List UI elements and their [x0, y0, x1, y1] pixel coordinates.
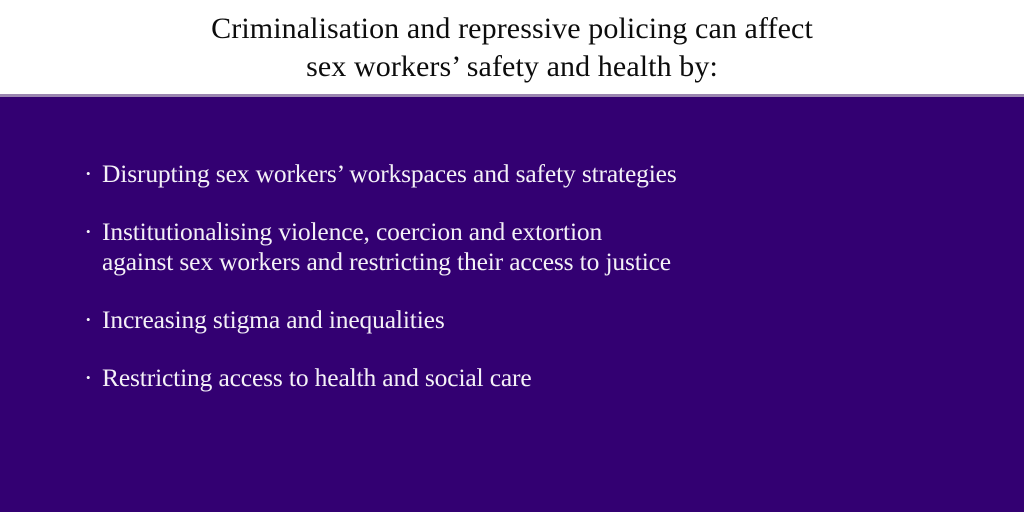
list-item: · Disrupting sex workers’ workspaces and… — [82, 159, 932, 189]
list-item: · Increasing stigma and inequalities — [82, 305, 932, 335]
list-item-line: Increasing stigma and inequalities — [102, 305, 932, 335]
bullet-icon: · — [84, 159, 98, 189]
list-item-line: Disrupting sex workers’ workspaces and s… — [102, 159, 932, 189]
page-title-line-2: sex workers’ safety and health by: — [306, 48, 718, 86]
bullet-icon: · — [84, 217, 98, 247]
list-item-line: against sex workers and restricting thei… — [102, 247, 932, 277]
bullet-list: · Disrupting sex workers’ workspaces and… — [82, 159, 932, 393]
content-panel: · Disrupting sex workers’ workspaces and… — [0, 97, 1024, 512]
bullet-icon: · — [84, 363, 98, 393]
slide: Criminalisation and repressive policing … — [0, 0, 1024, 512]
page-title-line-1: Criminalisation and repressive policing … — [211, 10, 813, 48]
slide-header: Criminalisation and repressive policing … — [0, 0, 1024, 95]
list-item: · Restricting access to health and socia… — [82, 363, 932, 393]
list-item-line: Institutionalising violence, coercion an… — [102, 217, 932, 247]
list-item: · Institutionalising violence, coercion … — [82, 217, 932, 277]
list-item-line: Restricting access to health and social … — [102, 363, 932, 393]
bullet-icon: · — [84, 305, 98, 335]
